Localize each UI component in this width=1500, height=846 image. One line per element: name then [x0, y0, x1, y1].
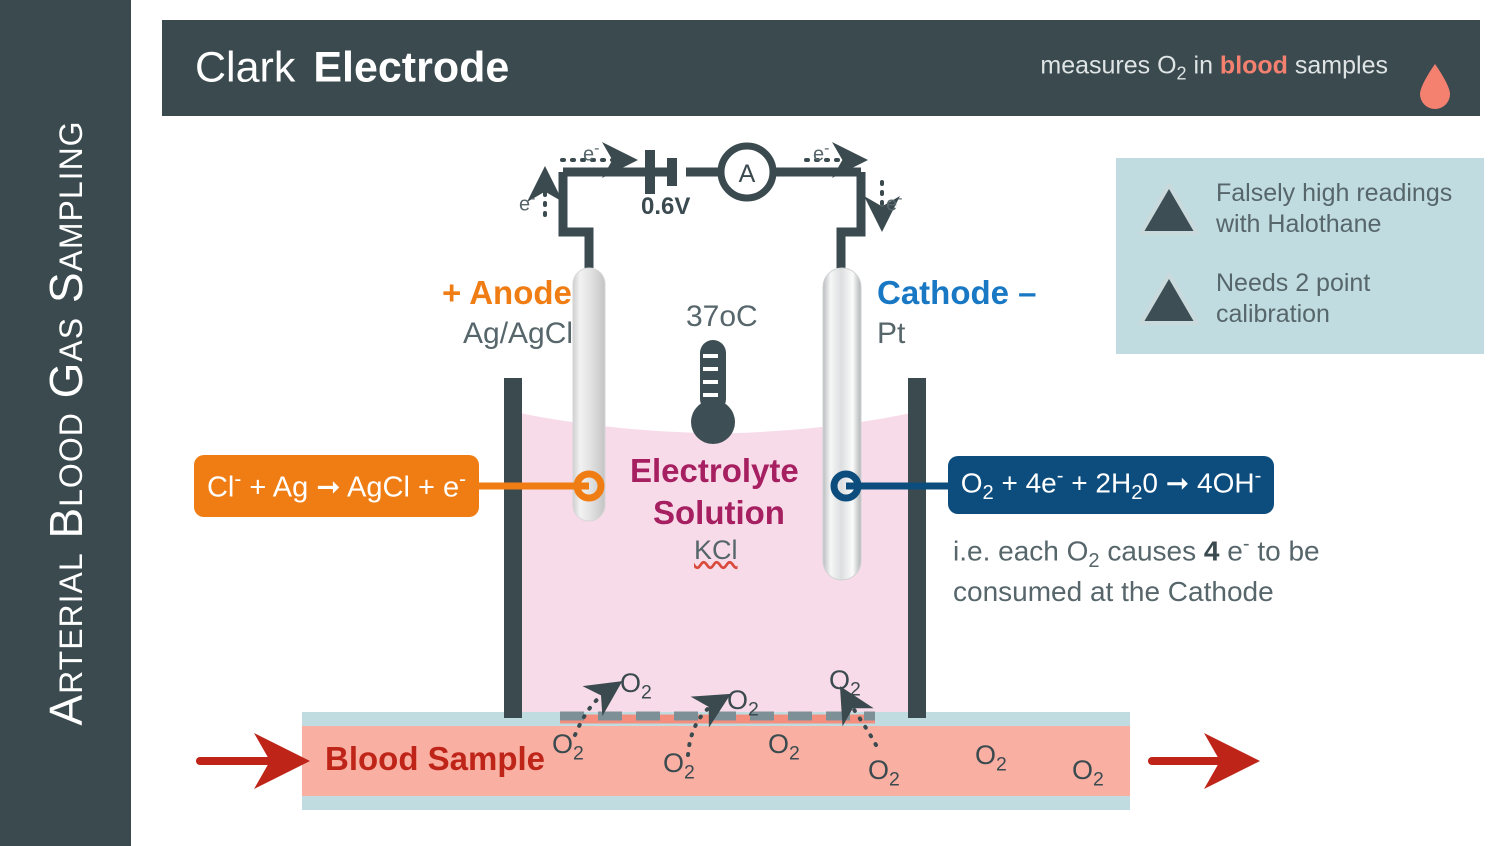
electron-label-top-left: e- [583, 140, 599, 167]
o2-label-electrolyte-1: O2 [620, 668, 652, 704]
cathode-note-pre: i.e. each O [953, 535, 1088, 566]
circuit-wiring [563, 172, 861, 268]
electrolyte-label-line2: Solution [653, 494, 785, 532]
battery-symbol [650, 150, 672, 194]
cathode-material: Pt [877, 317, 905, 351]
cathode-title: Cathode – [877, 274, 1037, 312]
electrolyte-salt-label: KCl [694, 535, 738, 566]
o2-label-blood-5: O2 [975, 740, 1007, 776]
anode-reaction-text: Cl- + Ag ➞ AgCl + e- [207, 468, 466, 505]
cathode-note-bold: 4 [1204, 535, 1220, 566]
ammeter-label: A [739, 160, 756, 188]
o2-label-electrolyte-2: O2 [727, 685, 759, 721]
blood-sample-label: Blood Sample [325, 740, 545, 778]
cathode-note: i.e. each O2 causes 4 e- to be consumed … [953, 531, 1353, 611]
electron-label-top-right: e- [813, 140, 829, 167]
cathode-note-mid: causes [1100, 535, 1204, 566]
electron-label-right: e- [886, 190, 902, 217]
slide-root: Arterial Blood Gas Sampling ClarkElectro… [0, 0, 1500, 846]
o2-label-blood-3: O2 [768, 729, 800, 765]
cathode-electrode [823, 268, 861, 580]
o2-label-blood-2: O2 [663, 748, 695, 784]
thermometer-icon [691, 340, 735, 444]
o2-label-blood-4: O2 [868, 755, 900, 791]
cathode-note-subscript: 2 [1088, 550, 1099, 572]
electron-label-left: e- [519, 190, 535, 217]
o2-label-blood-6: O2 [1072, 755, 1104, 791]
vessel-wall-left [504, 378, 522, 718]
anode-material: Ag/AgCl [463, 317, 573, 351]
blood-chamber-bottom-wall [302, 796, 1130, 810]
temperature-label: 37oC [686, 300, 758, 334]
anode-reaction-box: Cl- + Ag ➞ AgCl + e- [194, 455, 479, 517]
o2-label-electrolyte-3: O2 [829, 665, 861, 701]
cathode-reaction-text: O2 + 4e- + 2H20 ➞ 4OH- [961, 465, 1262, 505]
electrolyte-label-line1: Electrolyte [630, 452, 799, 490]
cathode-reaction-box: O2 + 4e- + 2H20 ➞ 4OH- [948, 456, 1274, 514]
battery-voltage-label: 0.6V [641, 193, 690, 221]
anode-title: + Anode [442, 274, 572, 312]
o2-label-blood-1: O2 [552, 729, 584, 765]
vessel-wall-right [908, 378, 926, 718]
